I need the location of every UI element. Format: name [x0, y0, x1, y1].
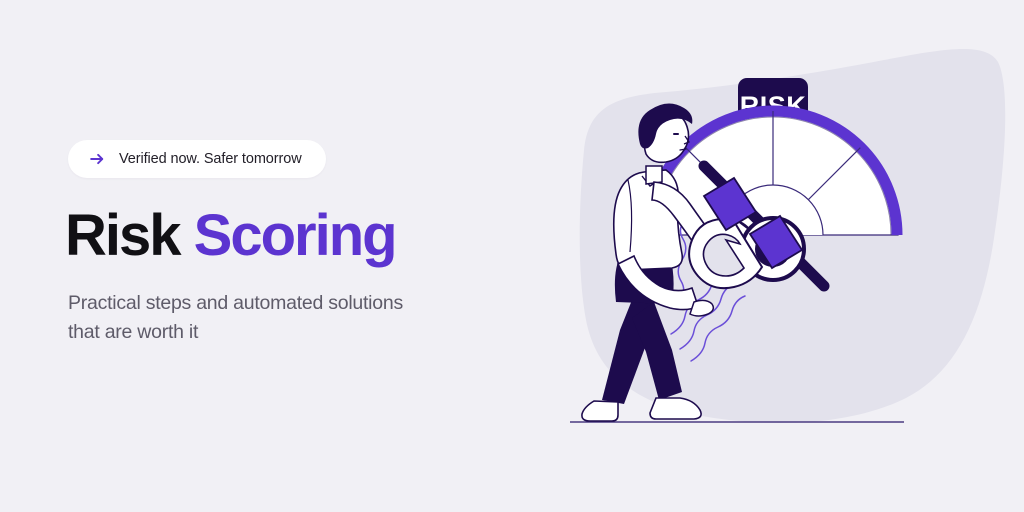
person-back-shoe [582, 401, 618, 421]
hero-text-column: Verified now. Safer tomorrow Risk Scorin… [68, 140, 538, 347]
hero-illustration: RISK [554, 0, 1024, 512]
page-subtitle-line1: Practical steps and automated solutions [68, 292, 403, 314]
page-title-accent: Scoring [194, 203, 396, 268]
badge-label: Verified now. Safer tomorrow [119, 151, 302, 167]
eyebrow-badge[interactable]: Verified now. Safer tomorrow [68, 140, 326, 178]
person-hand-lower [690, 300, 713, 316]
page-subtitle-line2: that are worth it [68, 321, 198, 343]
arrow-right-icon [88, 150, 106, 168]
person-shirt [614, 170, 683, 270]
page-subtitle: Practical steps and automated solutionst… [68, 289, 488, 348]
page-title: Risk Scoring [65, 206, 538, 267]
page-title-primary: Risk [65, 203, 180, 268]
hero-banner: Verified now. Safer tomorrow Risk Scorin… [0, 0, 1024, 512]
